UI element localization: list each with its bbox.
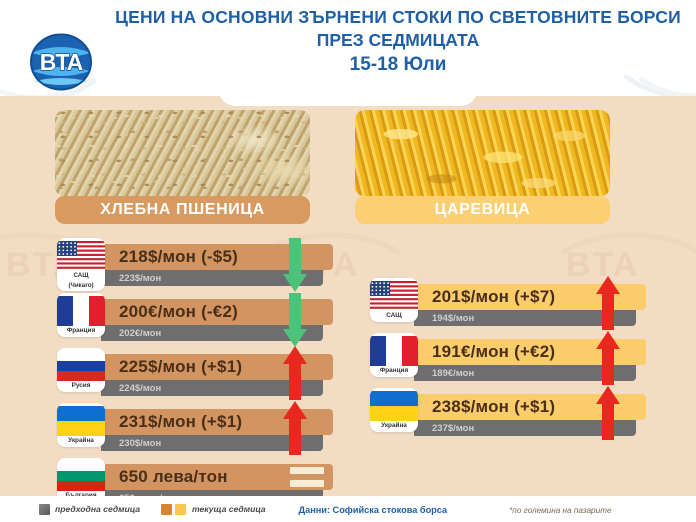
legend-current-week: текуща седмица <box>161 504 266 515</box>
country-label: Франция <box>370 366 418 377</box>
legend-swatch-current-wheat-icon <box>161 504 172 515</box>
wheat-grain-photo <box>55 110 310 196</box>
bta-globe-logo: BTA <box>17 31 105 93</box>
data-row: Русия 225$/мон (+$1) 224$/мон <box>57 348 357 400</box>
footer-bar: предходна седмица текуща седмица Данни: … <box>0 496 696 522</box>
current-price-value: 650 лева/тон <box>119 467 228 487</box>
data-row: Франция 200€/мон (-€2) 202€/мон <box>57 293 357 345</box>
trend-equal-icon <box>290 467 324 493</box>
previous-price-value: 223$/мон <box>119 273 161 284</box>
trend-up-arrow-icon <box>282 399 308 462</box>
country-label: САЩ <box>57 271 105 281</box>
trend-up-arrow-icon <box>595 384 621 447</box>
legend-previous-week: предходна седмица <box>39 504 140 515</box>
legend-swatch-current-corn-icon <box>175 504 186 515</box>
footer-note: *по големина на пазарите <box>509 500 611 518</box>
page-title: ЦЕНИ НА ОСНОВНИ ЗЪРНЕНИ СТОКИ ПО СВЕТОВН… <box>110 6 686 78</box>
flag-icon-ua <box>57 403 105 436</box>
title-line-3: 15-18 Юли <box>110 52 686 78</box>
country-flag-badge-ua: Украйна <box>370 388 418 432</box>
current-price-value: 191€/мон (+€2) <box>432 342 555 362</box>
data-row: Украйна 231$/мон (+$1) 230$/мон <box>57 403 357 455</box>
country-flag-badge-fr: Франция <box>370 333 418 377</box>
current-price-value: 201$/мон (+$7) <box>432 287 555 307</box>
current-price-value: 225$/мон (+$1) <box>119 357 242 377</box>
data-row: Украйна 238$/мон (+$1) 237$/мон <box>370 388 670 440</box>
country-flag-badge-ru: Русия <box>57 348 105 392</box>
section-banner-label-wheat: ХЛЕБНА ПШЕНИЦА <box>100 201 265 219</box>
section-card-wheat: ХЛЕБНА ПШЕНИЦА <box>55 110 310 224</box>
current-price-value: 200€/мон (-€2) <box>119 302 238 322</box>
title-line-1: ЦЕНИ НА ОСНОВНИ ЗЪРНЕНИ СТОКИ ПО СВЕТОВН… <box>110 6 686 28</box>
footer-source: Данни: Софийска стокова борса <box>299 500 448 518</box>
section-banner-label-corn: ЦАРЕВИЦА <box>435 201 531 219</box>
section-banner-wheat: ХЛЕБНА ПШЕНИЦА <box>55 196 310 224</box>
legend-previous-label: предходна седмица <box>55 504 140 514</box>
country-label: Русия <box>57 381 105 392</box>
footer-legend: предходна седмица текуща седмица Данни: … <box>0 496 696 522</box>
section-banner-corn: ЦАРЕВИЦА <box>355 196 610 224</box>
flag-icon-us <box>57 238 105 271</box>
previous-price-value: 224$/мон <box>119 383 161 394</box>
previous-price-value: 237$/мон <box>432 423 474 434</box>
country-flag-badge-ua: Украйна <box>57 403 105 447</box>
flag-icon-ru <box>57 348 105 381</box>
country-label: Франция <box>57 326 105 337</box>
country-label-line2: (Чикаго) <box>57 281 105 291</box>
trend-up-arrow-icon <box>282 344 308 407</box>
trend-up-arrow-icon <box>595 274 621 337</box>
previous-price-value: 189€/мон <box>432 368 474 379</box>
data-row: Франция 191€/мон (+€2) 189€/мон <box>370 333 670 385</box>
country-label: Украйна <box>370 421 418 432</box>
data-row: САЩ(Чикаго) 218$/мон (-$5) 223$/мон <box>57 238 357 290</box>
section-card-corn: ЦАРЕВИЦА <box>355 110 610 224</box>
flag-icon-fr <box>370 333 418 366</box>
flag-icon-us <box>370 278 418 311</box>
current-price-value: 238$/мон (+$1) <box>432 397 555 417</box>
svg-text:BTA: BTA <box>40 49 83 75</box>
previous-price-value: 230$/мон <box>119 438 161 449</box>
legend-current-label: текуща седмица <box>192 504 266 514</box>
current-price-value: 218$/мон (-$5) <box>119 247 238 267</box>
trend-up-arrow-icon <box>595 329 621 392</box>
infographic-canvas: BTA BTA BTA ЦЕНИ НА ОСНОВНИ ЗЪРНЕНИ СТОК… <box>0 0 696 522</box>
flag-icon-fr <box>57 293 105 326</box>
country-flag-badge-fr: Франция <box>57 293 105 337</box>
header-date-tab <box>218 84 478 106</box>
country-flag-badge-us: САЩ <box>370 278 418 322</box>
previous-price-value: 194$/мон <box>432 313 474 324</box>
legend-swatch-previous-icon <box>39 504 50 515</box>
country-label: Украйна <box>57 436 105 447</box>
trend-down-arrow-icon <box>282 236 308 299</box>
country-flag-badge-us: САЩ(Чикаго) <box>57 238 105 291</box>
current-price-value: 231$/мон (+$1) <box>119 412 242 432</box>
data-row: САЩ 201$/мон (+$7) 194$/мон <box>370 278 670 330</box>
title-line-2: ПРЕЗ СЕДМИЦАТА <box>110 28 686 52</box>
corn-cobs-photo <box>355 110 610 196</box>
flag-icon-ua <box>370 388 418 421</box>
country-label: САЩ <box>370 311 418 322</box>
previous-price-value: 202€/мон <box>119 328 161 339</box>
